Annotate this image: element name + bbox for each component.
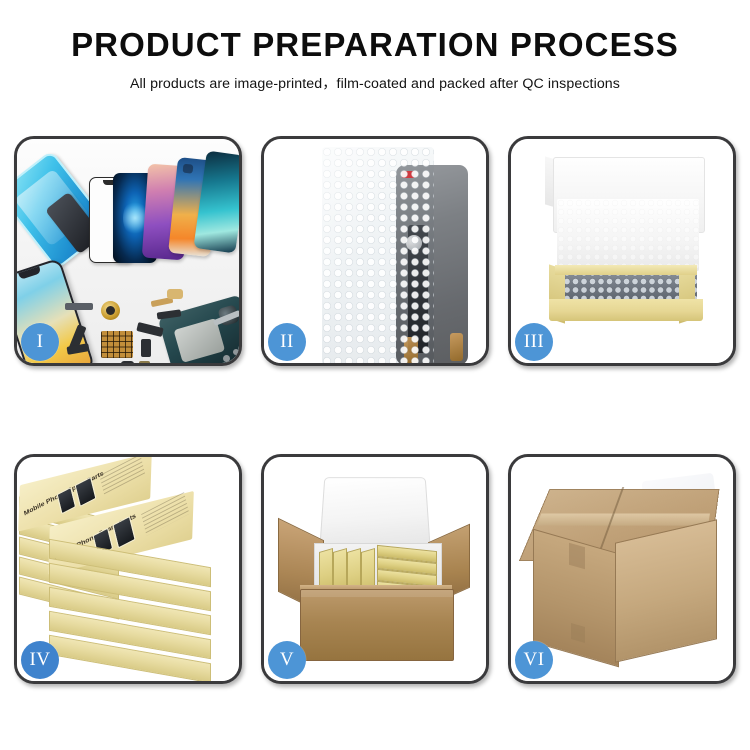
gold-connector-icon xyxy=(450,333,463,361)
process-step-panel-6: VI xyxy=(508,454,736,684)
step-badge-4: IV xyxy=(21,641,59,679)
packing-tape-icon xyxy=(537,514,710,526)
connector-chip-icon xyxy=(101,331,133,358)
lid-spec-lines-icon xyxy=(99,457,145,495)
step-badge-5: V xyxy=(268,641,306,679)
carton-tab-icon xyxy=(569,543,585,570)
process-steps-grid: I II xyxy=(14,136,736,684)
page-subtitle: All products are image-printed，film-coat… xyxy=(0,73,750,93)
process-step-panel-3: III xyxy=(508,136,736,366)
product-preparation-process-page: PRODUCT PREPARATION PROCESS All products… xyxy=(0,0,750,750)
white-foam-sheet-icon xyxy=(557,199,699,271)
kraft-tray-rim-icon xyxy=(555,265,697,275)
foam-box-lid-icon xyxy=(319,477,430,546)
plastic-sheen-icon xyxy=(322,147,434,363)
earpiece-mesh-icon xyxy=(65,303,93,310)
bubble-wrap-bag-icon xyxy=(322,147,434,363)
screw-icon xyxy=(223,355,230,362)
step-badge-1: I xyxy=(21,323,59,361)
step-badge-6: VI xyxy=(515,641,553,679)
process-step-panel-4: Mobile Phone Spare Parts Mobile Phone Sp… xyxy=(14,454,242,684)
battery-connector-icon xyxy=(141,339,151,357)
process-step-panel-2: II xyxy=(261,136,489,366)
step-badge-3: III xyxy=(515,323,553,361)
page-header: PRODUCT PREPARATION PROCESS All products… xyxy=(0,0,750,93)
gold-module-icon xyxy=(167,289,183,299)
process-step-panel-5: V xyxy=(261,454,489,684)
speaker-coil-icon xyxy=(101,301,120,320)
vibration-motor-icon xyxy=(121,361,134,363)
page-title: PRODUCT PREPARATION PROCESS xyxy=(0,26,750,64)
step-badge-2: II xyxy=(268,323,306,361)
screw-icon xyxy=(233,349,239,355)
carton-front-panel-icon xyxy=(300,589,454,661)
process-step-panel-1: I xyxy=(14,136,242,366)
carton-right-face-icon xyxy=(615,519,717,663)
kraft-tray-front-icon xyxy=(549,299,703,321)
gold-contact-part-icon xyxy=(139,361,150,363)
